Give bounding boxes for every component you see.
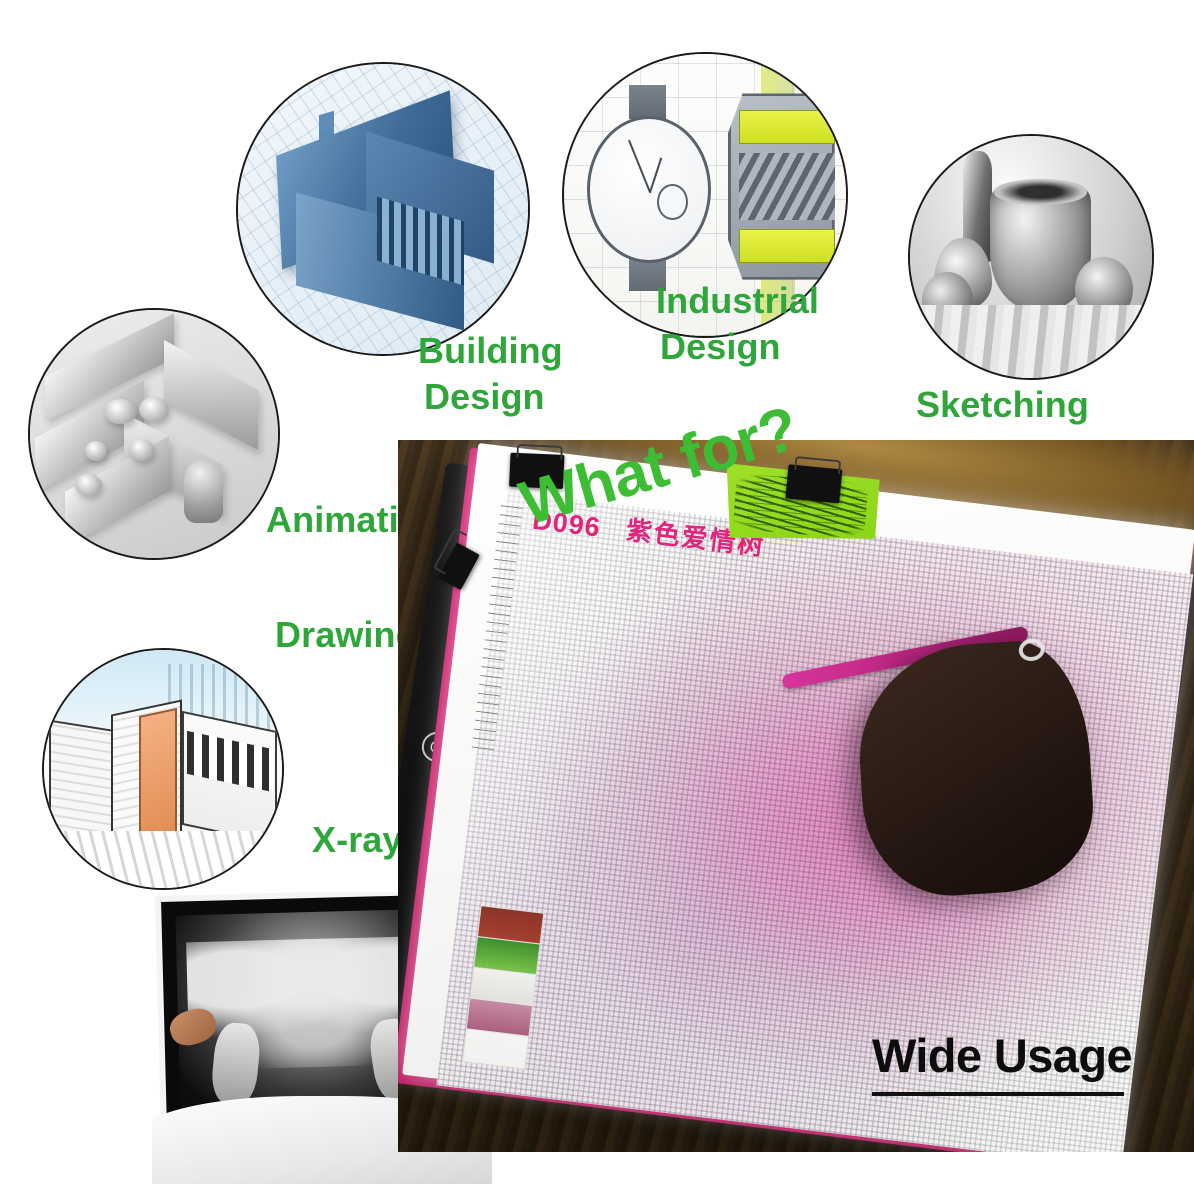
label-line-1: X-ray [312, 820, 403, 860]
label-line-2: Design [660, 324, 819, 370]
label-line-2: Design [424, 374, 563, 420]
binder-clip [785, 464, 842, 503]
use-case-thumb-animation [28, 308, 280, 560]
wide-usage-title: Wide Usage [872, 1032, 1130, 1079]
wide-usage-block: Wide Usage [872, 1032, 1130, 1096]
label-line-1: Building [418, 328, 563, 374]
house-blueprint-image [238, 64, 528, 354]
use-case-label-sketching: Sketching [916, 385, 1089, 425]
use-case-thumb-drawing [42, 648, 284, 890]
use-case-label-industrial-design: Industrial Design [656, 278, 819, 370]
wide-usage-underline [872, 1092, 1124, 1096]
use-case-label-drawing: Drawing [275, 615, 418, 655]
still-life-pencil-sketch-image [910, 136, 1152, 378]
poster-canvas: Building Design Industrial Design Sketch… [0, 0, 1194, 1194]
use-case-label-x-ray: X-ray [312, 820, 403, 860]
use-case-label-building-design: Building Design [418, 328, 563, 420]
perspective-building-drawing-image [44, 650, 282, 888]
use-case-thumb-building-design [236, 62, 530, 356]
use-case-thumb-sketching [908, 134, 1154, 380]
isometric-3d-render-image [30, 310, 278, 558]
label-line-1: Sketching [916, 385, 1089, 425]
label-line-1: Drawing [275, 615, 418, 655]
label-line-1: Industrial [656, 278, 819, 324]
